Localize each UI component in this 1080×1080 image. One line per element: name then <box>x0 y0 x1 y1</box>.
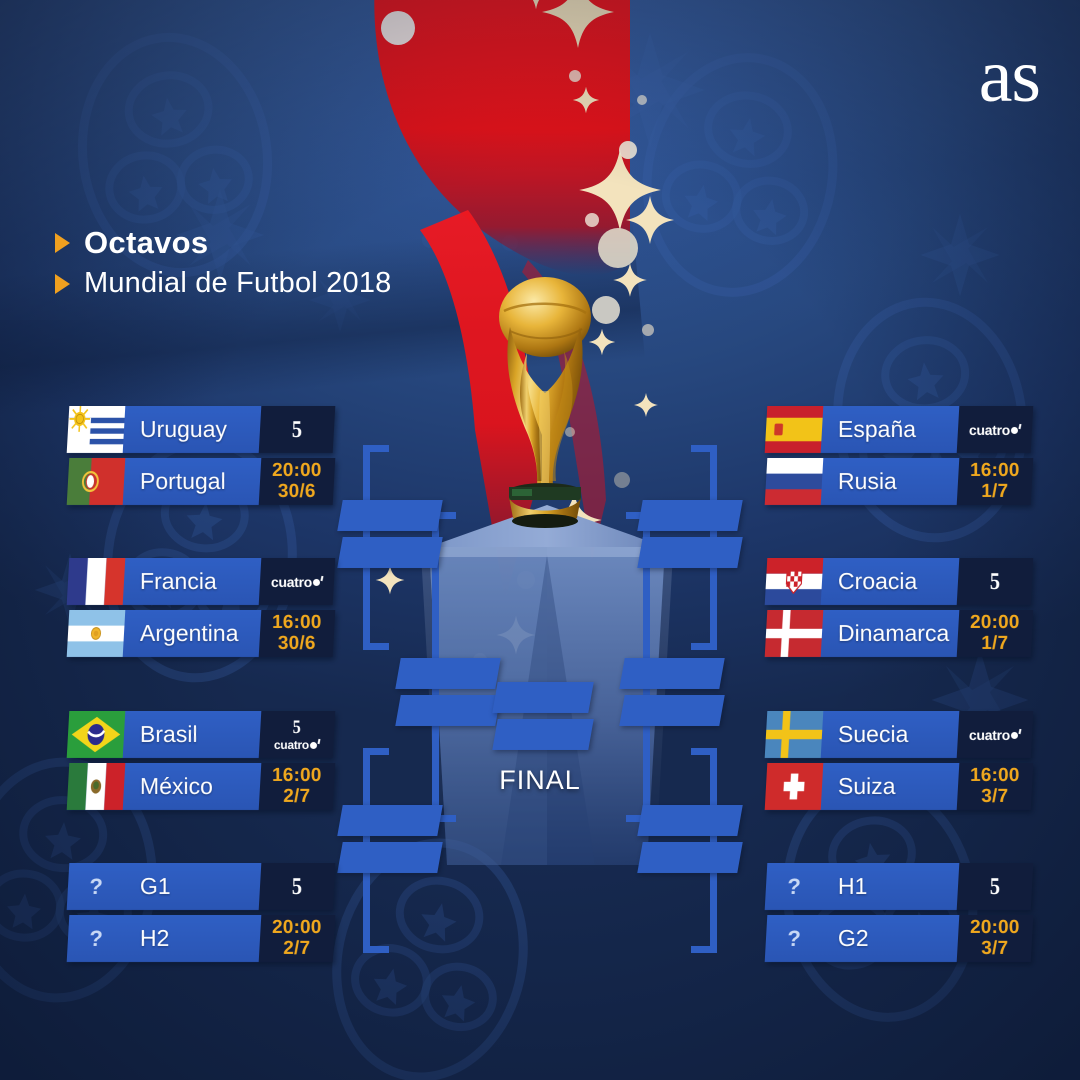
page-title: Octavos <box>84 225 208 261</box>
team-name: Uruguay <box>124 416 227 443</box>
kickoff-date: 2/7 <box>283 787 310 807</box>
slot-bar[interactable] <box>637 537 742 568</box>
quarterfinal-slot-right-top[interactable] <box>640 500 740 568</box>
kickoff-cell: 16:001/7 <box>957 458 1034 505</box>
flag-icon <box>67 610 126 657</box>
kickoff-date: 3/7 <box>981 787 1008 807</box>
telecinco-logo-icon: 5 <box>292 418 302 442</box>
slot-bar[interactable] <box>637 842 742 873</box>
flag-icon <box>765 406 824 453</box>
team-cell[interactable]: ?H1 <box>765 863 960 910</box>
match-row-home[interactable]: Uruguay5 <box>67 406 336 453</box>
side-content: 16:001/7 <box>970 461 1020 502</box>
team-name: Argentina <box>124 620 238 647</box>
slot-bar[interactable] <box>619 695 724 726</box>
side-content: 5 <box>291 875 303 899</box>
side-content: 5cuatro <box>274 718 320 751</box>
team-cell[interactable]: España <box>765 406 960 453</box>
flag-icon <box>765 610 824 657</box>
quarterfinal-slot-left-bottom[interactable] <box>340 805 440 873</box>
flag-icon <box>765 711 824 758</box>
side-content: 5 <box>989 570 1001 594</box>
team-cell[interactable]: Dinamarca <box>765 610 960 657</box>
unknown-team-icon: ? <box>765 863 824 910</box>
match-row-home[interactable]: Franciacuatro <box>67 558 336 605</box>
infographic-canvas: as Octavos Mundial de Futbol 2018 <box>0 0 1080 1080</box>
subtitle-row: Mundial de Futbol 2018 <box>55 267 392 300</box>
team-cell[interactable]: México <box>67 763 262 810</box>
kickoff-cell: 16:0030/6 <box>259 610 336 657</box>
slot-bar[interactable] <box>395 695 500 726</box>
team-name: Brasil <box>124 721 198 748</box>
team-cell[interactable]: Rusia <box>765 458 960 505</box>
final-label: FINAL <box>440 765 640 796</box>
match-row-away[interactable]: Portugal20:0030/6 <box>67 458 336 505</box>
page-subtitle: Mundial de Futbol 2018 <box>84 267 392 300</box>
team-name: G1 <box>124 873 171 900</box>
side-content: 16:002/7 <box>272 766 322 807</box>
team-cell[interactable]: Argentina <box>67 610 262 657</box>
semifinal-slot-right[interactable] <box>622 658 722 726</box>
slot-bar[interactable] <box>492 682 593 713</box>
kickoff-date: 3/7 <box>981 939 1008 959</box>
match-card: Uruguay5 Portugal20:0030/6 <box>68 406 334 505</box>
cuatro-logo-icon: cuatro <box>969 423 1021 437</box>
team-cell[interactable]: ?H2 <box>67 915 262 962</box>
match-row-home[interactable]: ?H15 <box>765 863 1034 910</box>
flag-icon <box>765 763 824 810</box>
slot-bar[interactable] <box>395 658 500 689</box>
team-cell[interactable]: Portugal <box>67 458 262 505</box>
slot-bar[interactable] <box>619 658 724 689</box>
semifinal-slot-left[interactable] <box>398 658 498 726</box>
kickoff-time: 20:00 <box>970 613 1020 633</box>
channel-cell: cuatro <box>259 558 336 605</box>
team-cell[interactable]: Suecia <box>765 711 960 758</box>
team-name: H2 <box>124 925 169 952</box>
side-content: 16:003/7 <box>970 766 1020 807</box>
flag-icon <box>765 558 824 605</box>
team-name: Portugal <box>124 468 226 495</box>
match-row-away[interactable]: Suiza16:003/7 <box>765 763 1034 810</box>
kickoff-time: 16:00 <box>272 613 322 633</box>
kickoff-time: 16:00 <box>970 766 1020 786</box>
match-card: ?G15?H220:002/7 <box>68 863 334 962</box>
side-content: 5 <box>291 418 303 442</box>
kickoff-cell: 20:001/7 <box>957 610 1034 657</box>
side-content: 20:001/7 <box>970 613 1020 654</box>
match-row-away[interactable]: Rusia16:001/7 <box>765 458 1034 505</box>
channel-cell: 5 <box>957 558 1034 605</box>
team-cell[interactable]: ?G2 <box>765 915 960 962</box>
flag-icon <box>67 406 126 453</box>
kickoff-cell: 16:002/7 <box>259 763 336 810</box>
cuatro-logo-icon: cuatro <box>274 739 320 751</box>
side-content: 16:0030/6 <box>272 613 322 654</box>
channel-cell: cuatro <box>957 406 1034 453</box>
team-name: Rusia <box>822 468 897 495</box>
match-row-away[interactable]: ?G220:003/7 <box>765 915 1034 962</box>
channel-cell: 5cuatro <box>259 711 336 758</box>
channel-cell: 5 <box>957 863 1034 910</box>
match-row-home[interactable]: Sueciacuatro <box>765 711 1034 758</box>
triangle-bullet-icon <box>55 274 70 294</box>
match-row-home[interactable]: Brasil5cuatro <box>67 711 336 758</box>
telecinco-logo-icon: 5 <box>292 875 302 899</box>
telecinco-logo-icon: 5 <box>990 570 1000 594</box>
team-name: México <box>124 773 213 800</box>
channel-cell: 5 <box>259 863 336 910</box>
quarterfinal-slot-right-bottom[interactable] <box>640 805 740 873</box>
kickoff-time: 20:00 <box>272 461 322 481</box>
match-card: Brasil5cuatro México16:002/7 <box>68 711 334 810</box>
match-card: Croacia5 Dinamarca20:001/7 <box>766 558 1032 657</box>
kickoff-date: 30/6 <box>278 634 316 654</box>
kickoff-time: 16:00 <box>272 766 322 786</box>
kickoff-date: 30/6 <box>278 482 316 502</box>
quarterfinal-slot-left-top[interactable] <box>340 500 440 568</box>
slot-bar[interactable] <box>337 805 442 836</box>
side-content: 20:0030/6 <box>272 461 322 502</box>
telecinco-logo-icon: 5 <box>293 718 301 737</box>
match-card: Franciacuatro Argentina16:0030/6 <box>68 558 334 657</box>
flag-icon <box>67 558 126 605</box>
team-name: G2 <box>822 925 869 952</box>
kickoff-date: 1/7 <box>981 634 1008 654</box>
channel-cell: 5 <box>259 406 336 453</box>
as-logo[interactable]: as <box>979 38 1040 114</box>
team-name: H1 <box>822 873 867 900</box>
kickoff-cell: 16:003/7 <box>957 763 1034 810</box>
unknown-team-icon: ? <box>765 915 824 962</box>
unknown-team-icon: ? <box>67 863 126 910</box>
flag-icon <box>67 458 126 505</box>
slot-bar[interactable] <box>337 842 442 873</box>
team-name: Francia <box>124 568 217 595</box>
side-content: cuatro <box>969 423 1021 437</box>
flag-icon <box>765 458 824 505</box>
team-name: España <box>822 416 916 443</box>
kickoff-cell: 20:003/7 <box>957 915 1034 962</box>
team-cell[interactable]: ?G1 <box>67 863 262 910</box>
slot-bar[interactable] <box>492 719 593 750</box>
side-content: 5 <box>989 875 1001 899</box>
kickoff-time: 20:00 <box>970 918 1020 938</box>
flag-icon <box>67 711 126 758</box>
slot-bar[interactable] <box>337 500 442 531</box>
team-name: Dinamarca <box>822 620 949 647</box>
match-row-away[interactable]: ?H220:002/7 <box>67 915 336 962</box>
page-title-block: Octavos Mundial de Futbol 2018 <box>55 225 392 306</box>
kickoff-date: 1/7 <box>981 482 1008 502</box>
slot-bar[interactable] <box>637 500 742 531</box>
final-slot[interactable] <box>495 682 591 750</box>
slot-bar[interactable] <box>337 537 442 568</box>
cuatro-logo-icon: cuatro <box>969 728 1021 742</box>
triangle-bullet-icon <box>55 233 70 253</box>
match-row-away[interactable]: Dinamarca20:001/7 <box>765 610 1034 657</box>
team-cell[interactable]: Uruguay <box>67 406 262 453</box>
slot-bar[interactable] <box>637 805 742 836</box>
side-content: 20:002/7 <box>272 918 322 959</box>
team-name: Suiza <box>822 773 896 800</box>
telecinco-logo-icon: 5 <box>990 875 1000 899</box>
match-card: ?H15?G220:003/7 <box>766 863 1032 962</box>
kickoff-time: 16:00 <box>970 461 1020 481</box>
kickoff-cell: 20:0030/6 <box>259 458 336 505</box>
team-cell[interactable]: Brasil <box>67 711 262 758</box>
flag-icon <box>67 763 126 810</box>
match-row-away[interactable]: México16:002/7 <box>67 763 336 810</box>
title-row: Octavos <box>55 225 392 261</box>
unknown-team-icon: ? <box>67 915 126 962</box>
team-cell[interactable]: Francia <box>67 558 262 605</box>
match-row-home[interactable]: Españacuatro <box>765 406 1034 453</box>
channel-cell: cuatro <box>957 711 1034 758</box>
cuatro-logo-icon: cuatro <box>271 575 323 589</box>
team-cell[interactable]: Suiza <box>765 763 960 810</box>
side-content: 20:003/7 <box>970 918 1020 959</box>
match-card: Españacuatro Rusia16:001/7 <box>766 406 1032 505</box>
match-row-away[interactable]: Argentina16:0030/6 <box>67 610 336 657</box>
match-card: Sueciacuatro Suiza16:003/7 <box>766 711 1032 810</box>
side-content: cuatro <box>969 728 1021 742</box>
match-row-home[interactable]: ?G15 <box>67 863 336 910</box>
team-name: Suecia <box>822 721 908 748</box>
side-content: cuatro <box>271 575 323 589</box>
team-name: Croacia <box>822 568 917 595</box>
team-cell[interactable]: Croacia <box>765 558 960 605</box>
kickoff-date: 2/7 <box>283 939 310 959</box>
kickoff-time: 20:00 <box>272 918 322 938</box>
match-row-home[interactable]: Croacia5 <box>765 558 1034 605</box>
kickoff-cell: 20:002/7 <box>259 915 336 962</box>
